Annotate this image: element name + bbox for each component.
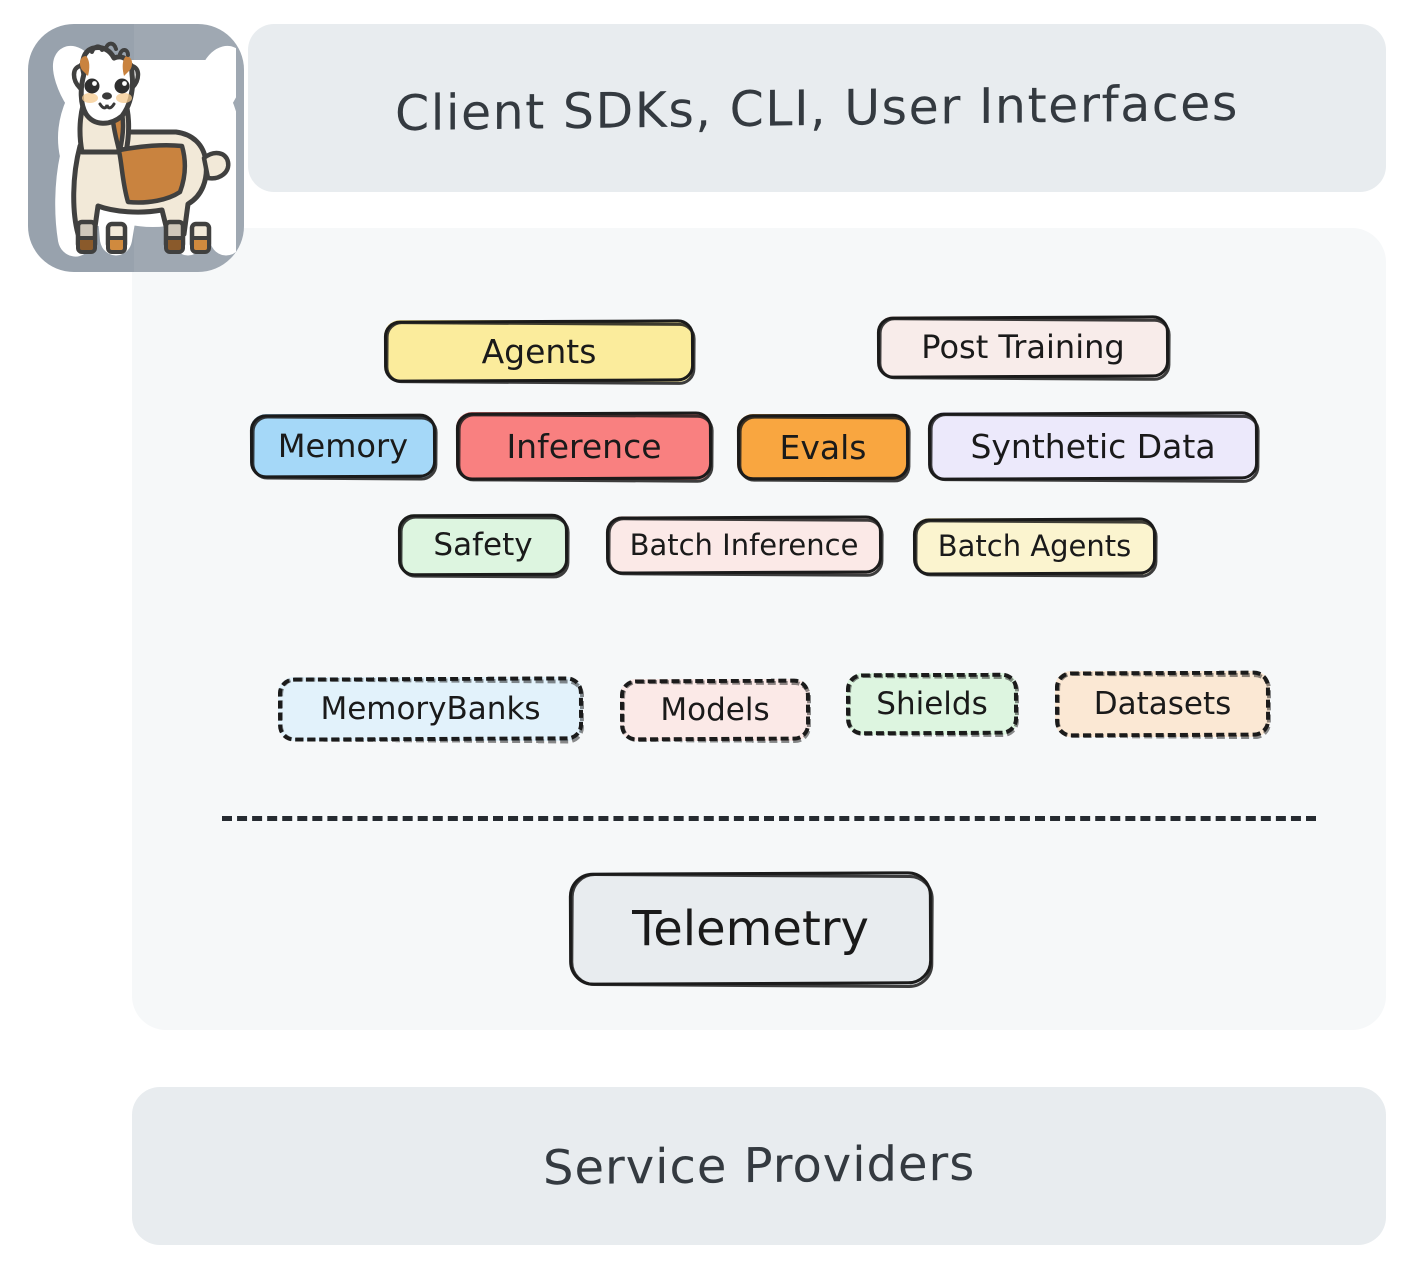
api-box-batch-agents[interactable]: Batch Agents xyxy=(913,518,1156,575)
batch-agents-label: Batch Agents xyxy=(938,532,1132,561)
synthetic-data-label: Synthetic Data xyxy=(970,430,1215,463)
api-box-safety[interactable]: Safety xyxy=(398,514,568,576)
batch-inference-label: Batch Inference xyxy=(630,531,859,560)
api-box-inference[interactable]: Inference xyxy=(456,412,712,480)
client-layer-title: Client SDKs, CLI, User Interfaces xyxy=(395,74,1239,141)
resource-box-shields[interactable]: Shields xyxy=(846,673,1018,735)
agents-label: Agents xyxy=(482,335,597,368)
inference-label: Inference xyxy=(506,430,661,463)
architecture-diagram: Client SDKs, CLI, User Interfaces xyxy=(0,0,1410,1268)
memory-label: Memory xyxy=(278,430,408,462)
telemetry-label: Telemetry xyxy=(632,905,869,953)
safety-label: Safety xyxy=(433,530,532,561)
resource-box-memorybanks[interactable]: MemoryBanks xyxy=(278,677,583,741)
datasets-label: Datasets xyxy=(1094,689,1232,720)
memorybanks-label: MemoryBanks xyxy=(320,694,540,725)
service-providers-bar: Service Providers xyxy=(132,1087,1386,1245)
post-training-label: Post Training xyxy=(921,331,1124,363)
client-layer-bar: Client SDKs, CLI, User Interfaces xyxy=(248,24,1386,192)
api-box-post-training[interactable]: Post Training xyxy=(877,316,1169,378)
api-box-agents[interactable]: Agents xyxy=(384,320,694,382)
llama-icon xyxy=(36,34,236,264)
section-divider xyxy=(222,816,1316,821)
llama-logo-tile xyxy=(28,24,244,272)
resource-box-models[interactable]: Models xyxy=(620,679,810,741)
shields-label: Shields xyxy=(876,689,987,720)
api-box-memory[interactable]: Memory xyxy=(250,414,436,478)
api-box-batch-inference[interactable]: Batch Inference xyxy=(606,516,882,574)
models-label: Models xyxy=(660,695,769,726)
api-box-evals[interactable]: Evals xyxy=(737,414,909,480)
evals-label: Evals xyxy=(780,431,867,464)
service-providers-title: Service Providers xyxy=(543,1136,975,1197)
resource-box-datasets[interactable]: Datasets xyxy=(1055,671,1270,737)
telemetry-box[interactable]: Telemetry xyxy=(569,872,932,985)
api-box-synthetic-data[interactable]: Synthetic Data xyxy=(928,412,1258,480)
